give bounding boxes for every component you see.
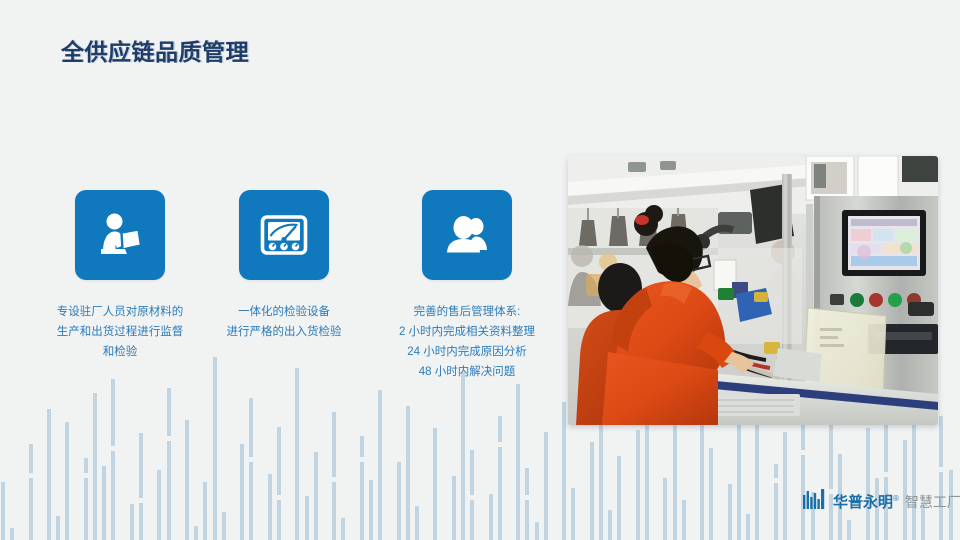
feature-inspection: 专设驻厂人员对原材料的 生产和出货过程进行监督 和检验 (30, 190, 210, 362)
decorative-bar (314, 452, 318, 540)
decorative-bar (84, 458, 88, 540)
decorative-bar (249, 398, 253, 540)
decorative-bar (406, 406, 410, 540)
person-reading-document-icon (93, 208, 147, 262)
decorative-bar (709, 448, 713, 540)
decorative-bar (360, 436, 364, 540)
decorative-bar (783, 432, 787, 540)
decorative-bar-gap (801, 450, 805, 455)
decorative-bar (167, 388, 171, 540)
decorative-bar (663, 478, 667, 540)
feature-aftersales: 完善的售后管理体系: 2 小时内完成相关资料整理 24 小时内完成原因分析 48… (372, 190, 562, 382)
decorative-bar (157, 470, 161, 540)
decorative-bar (866, 428, 870, 540)
decorative-bar-gap (167, 436, 171, 441)
decorative-bar-gap (249, 457, 253, 462)
decorative-bar (415, 506, 419, 540)
decorative-bar-gap (332, 477, 336, 482)
decorative-bar-gap (939, 467, 943, 472)
feature-equipment: 一体化的检验设备 进行严格的出入货检验 (209, 190, 359, 342)
decorative-bar-gap (525, 495, 529, 500)
brand-registered-mark: ® (893, 494, 899, 503)
decorative-bar-gap (360, 457, 364, 462)
decorative-bar (498, 416, 502, 540)
decorative-bar (673, 410, 677, 540)
decorative-bar (341, 518, 345, 540)
decorative-bar-gap (277, 495, 281, 500)
decorative-bar (645, 424, 649, 540)
decorative-bar (1, 482, 5, 540)
decorative-bar (29, 444, 33, 540)
decorative-bar (847, 520, 851, 540)
brand-name-cn: 华普永明® (833, 491, 899, 512)
decorative-bar-gap (84, 473, 88, 478)
decorative-bar (139, 433, 143, 540)
two-users-icon (440, 208, 494, 262)
decorative-bar (728, 484, 732, 540)
decorative-bar (10, 528, 14, 540)
decorative-bar (682, 500, 686, 540)
decorative-bar (525, 468, 529, 540)
decorative-bar-gap (636, 425, 640, 430)
feature-caption-inspection: 专设驻厂人员对原材料的 生产和出货过程进行监督 和检验 (30, 302, 210, 362)
building-bars-logo-icon (803, 489, 827, 514)
decorative-bar (295, 368, 299, 540)
decorative-bar (194, 526, 198, 540)
decorative-bar (433, 428, 437, 540)
decorative-bar-gap (111, 446, 115, 451)
feature-caption-equipment: 一体化的检验设备 进行严格的出入货检验 (209, 302, 359, 342)
decorative-bar (617, 456, 621, 540)
decorative-bar (378, 390, 382, 540)
decorative-bar (746, 514, 750, 540)
decorative-bar (562, 402, 566, 540)
factory-inspection-photo (568, 156, 938, 425)
feature-caption-aftersales: 完善的售后管理体系: 2 小时内完成相关资料整理 24 小时内完成原因分析 48… (372, 302, 562, 382)
page-title: 全供应链品质管理 (61, 33, 249, 67)
decorative-bar (93, 393, 97, 540)
decorative-bar (56, 516, 60, 540)
decorative-bar (268, 474, 272, 540)
decorative-bar (397, 462, 401, 540)
decorative-bar (516, 384, 520, 540)
decorative-bar-gap (884, 472, 888, 477)
decorative-bar (240, 444, 244, 540)
decorative-bar (332, 412, 336, 540)
decorative-bar-gap (29, 473, 33, 478)
decorative-bar (47, 409, 51, 540)
decorative-bar (461, 372, 465, 540)
decorative-bar (470, 450, 474, 540)
decorative-bar-gap (774, 478, 778, 483)
decorative-bar (939, 416, 943, 540)
decorative-bar (452, 476, 456, 540)
decorative-bar (305, 496, 309, 540)
decorative-bar-gap (498, 442, 502, 447)
decorative-bar-gap (470, 495, 474, 500)
decorative-bar (489, 494, 493, 540)
brand-name-sub: 智慧工厂 (905, 492, 960, 512)
decorative-bar (130, 504, 134, 540)
decorative-bar (774, 464, 778, 540)
decorative-bar (111, 379, 115, 540)
icon-tile-aftersales (422, 190, 512, 280)
gauge-meter-icon (257, 208, 311, 262)
icon-tile-inspection (75, 190, 165, 280)
decorative-bar (544, 432, 548, 540)
slide-canvas: 全供应链品质管理 专设驻厂人员对原材料的 生产和出货过程进行监督 和检验 (0, 0, 960, 540)
decorative-bar (571, 488, 575, 540)
decorative-bar (203, 482, 207, 540)
icon-tile-equipment (239, 190, 329, 280)
decorative-bar (213, 357, 217, 540)
decorative-bar (277, 427, 281, 540)
decorative-bar (185, 420, 189, 540)
decorative-bar (829, 408, 833, 540)
decorative-bar-gap (139, 498, 143, 503)
decorative-bar (737, 420, 741, 540)
decorative-bar (590, 442, 594, 540)
decorative-bar (369, 480, 373, 540)
decorative-bar (222, 512, 226, 540)
decorative-bar (535, 522, 539, 540)
decorative-bar (102, 466, 106, 540)
decorative-bar (608, 510, 612, 540)
brand-logo: 华普永明® 智慧工厂 (803, 489, 960, 514)
decorative-bar (65, 422, 69, 540)
